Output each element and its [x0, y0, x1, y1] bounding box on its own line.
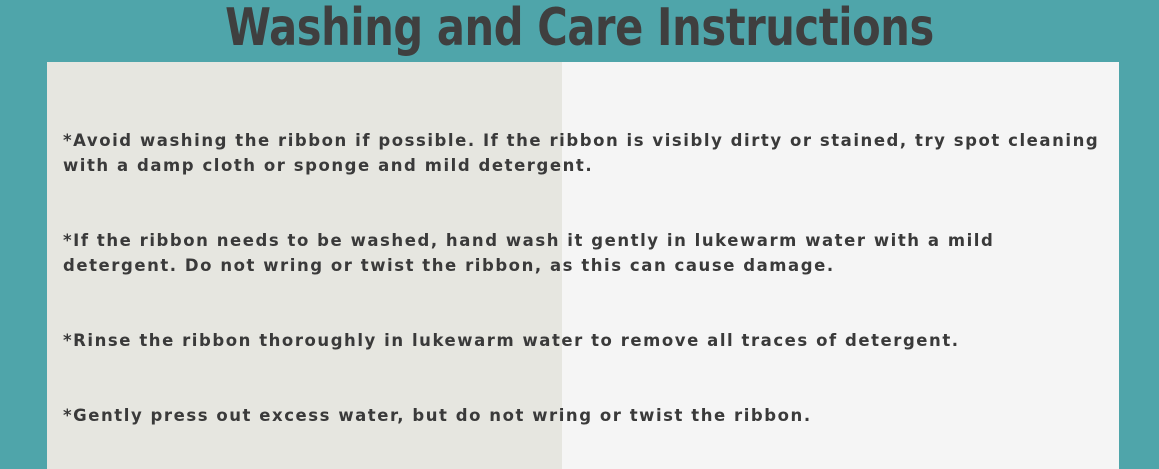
instructions-list: *Avoid washing the ribbon if possible. I…	[63, 78, 1111, 469]
list-item: *Gently press out excess water, but do n…	[63, 403, 1111, 428]
list-item: *Rinse the ribbon thoroughly in lukewarm…	[63, 328, 1111, 353]
poster-root: Washing and Care Instructions *Avoid was…	[0, 0, 1159, 469]
list-item: *Avoid washing the ribbon if possible. I…	[63, 128, 1111, 178]
page-title: Washing and Care Instructions	[116, 0, 1043, 60]
instructions-card: *Avoid washing the ribbon if possible. I…	[47, 62, 1119, 469]
list-item: *If the ribbon needs to be washed, hand …	[63, 228, 1111, 278]
